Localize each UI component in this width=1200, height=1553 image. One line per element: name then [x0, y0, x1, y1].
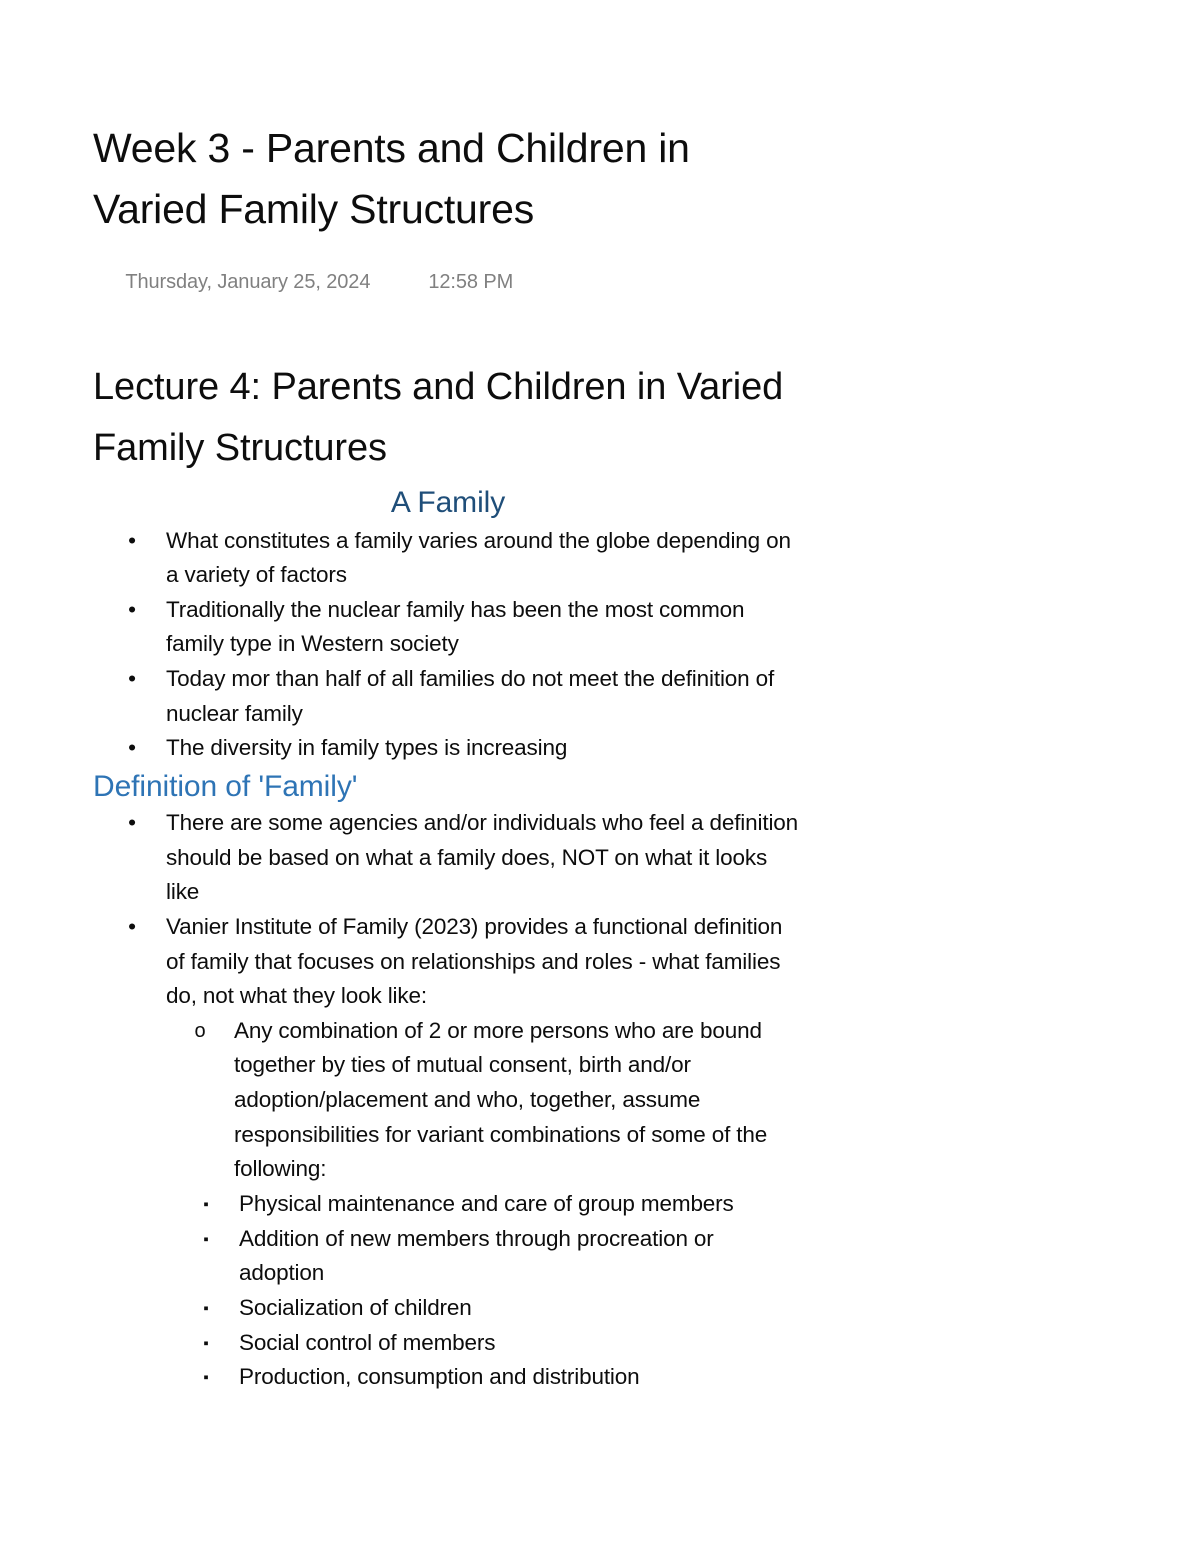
square-bullet-icon: ▪ [199, 1223, 213, 1257]
document-page: Week 3 - Parents and Children in Varied … [0, 0, 1200, 1553]
round-bullet-icon: • [125, 731, 139, 766]
list-item-text: Today mor than half of all families do n… [166, 662, 806, 731]
round-bullet-icon: • [125, 662, 139, 697]
square-bullet-icon: ▪ [199, 1327, 213, 1361]
list-item: • The diversity in family types is incre… [93, 731, 893, 766]
bullet-list-a-family: • What constitutes a family varies aroun… [93, 524, 893, 766]
section-heading-a-family: A Family [93, 486, 803, 520]
bullet-list-definition: • There are some agencies and/or individ… [93, 806, 893, 1014]
sub-sub-bullet-list-family-functions: ▪ Physical maintenance and care of group… [169, 1187, 893, 1395]
list-item-text: Physical maintenance and care of group m… [239, 1187, 739, 1222]
list-item: • Traditionally the nuclear family has b… [93, 593, 893, 662]
list-item-text: Socialization of children [239, 1291, 739, 1326]
list-item: • Vanier Institute of Family (2023) prov… [93, 910, 893, 1014]
square-bullet-icon: ▪ [199, 1188, 213, 1222]
list-item-text: There are some agencies and/or individua… [166, 806, 806, 910]
list-item: ▪ Socialization of children [169, 1291, 893, 1326]
document-content: Week 3 - Parents and Children in Varied … [93, 118, 893, 1395]
sub-bullet-list-vanier-definition: o Any combination of 2 or more persons w… [161, 1014, 893, 1187]
square-bullet-icon: ▪ [199, 1292, 213, 1326]
list-item: ▪ Addition of new members through procre… [169, 1222, 893, 1291]
square-bullet-icon: ▪ [199, 1361, 213, 1395]
list-item: • What constitutes a family varies aroun… [93, 524, 893, 593]
round-bullet-icon: • [125, 593, 139, 628]
list-item: o Any combination of 2 or more persons w… [161, 1014, 893, 1187]
list-item-text: Vanier Institute of Family (2023) provid… [166, 910, 806, 1014]
list-item-text: What constitutes a family varies around … [166, 524, 806, 593]
list-item-text: Any combination of 2 or more persons who… [234, 1014, 804, 1187]
list-item-text: Production, consumption and distribution [239, 1360, 739, 1395]
list-item-text: Traditionally the nuclear family has bee… [166, 593, 806, 662]
round-bullet-icon: • [125, 910, 139, 945]
round-bullet-icon: • [125, 524, 139, 559]
section-heading-definition-of-family: Definition of 'Family' [93, 770, 893, 804]
list-item: ▪ Physical maintenance and care of group… [169, 1187, 893, 1222]
document-time: 12:58 PM [370, 271, 513, 293]
document-date: Thursday, January 25, 2024 [125, 271, 370, 293]
list-item: ▪ Production, consumption and distributi… [169, 1360, 893, 1395]
list-item-text: Addition of new members through procreat… [239, 1222, 739, 1291]
round-bullet-icon: • [125, 806, 139, 841]
list-item: • There are some agencies and/or individ… [93, 806, 893, 910]
list-item-text: The diversity in family types is increas… [166, 731, 806, 766]
hollow-circle-bullet-icon: o [193, 1014, 207, 1048]
lecture-heading: Lecture 4: Parents and Children in Varie… [93, 357, 793, 479]
list-item: ▪ Social control of members [169, 1326, 893, 1361]
list-item: • Today mor than half of all families do… [93, 662, 893, 731]
list-item-text: Social control of members [239, 1326, 739, 1361]
page-title: Week 3 - Parents and Children in Varied … [93, 118, 813, 240]
document-meta-row: Thursday, January 25, 202412:58 PM [93, 248, 893, 317]
